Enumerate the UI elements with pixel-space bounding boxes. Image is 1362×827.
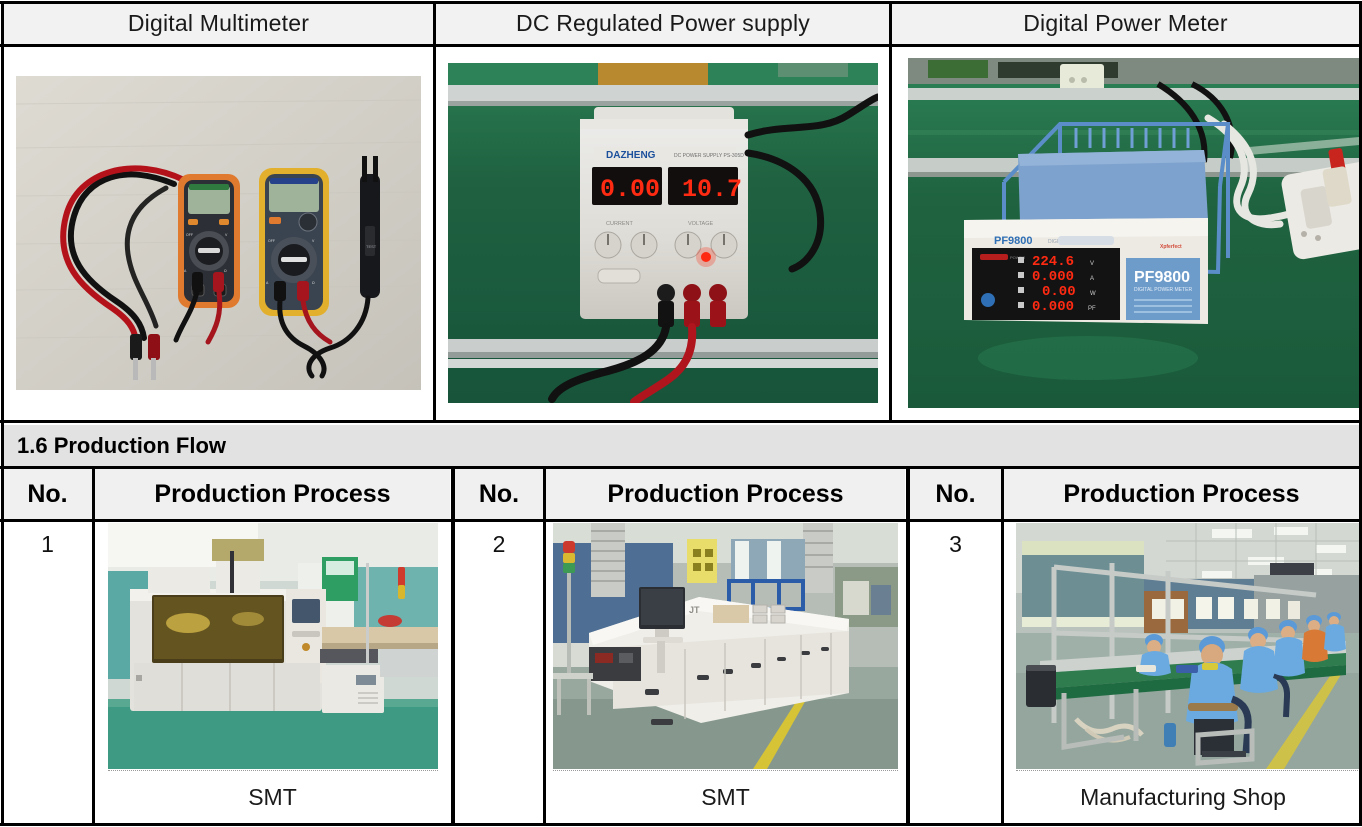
pf-header-process-1: Production Process [95, 469, 450, 519]
svg-text:DC POWER SUPPLY PS-305D: DC POWER SUPPLY PS-305D [674, 153, 744, 159]
border-left-edge [1, 1, 4, 826]
pf-header-label: No. [935, 480, 975, 509]
pf-row-number-label: 3 [949, 531, 962, 558]
svg-text:W: W [1090, 291, 1096, 297]
pf-header-process-2: Production Process [546, 469, 905, 519]
svg-text:PF9800: PF9800 [994, 235, 1033, 247]
border-top [0, 1, 1362, 4]
page-root: Digital Multimeter DC Regulated Power su… [0, 0, 1362, 827]
border-pf-no2-proc2 [543, 468, 546, 824]
svg-text:DAZHENG: DAZHENG [606, 150, 656, 161]
equipment-header-dc-regulated-power-supply: DC Regulated Power supply [436, 3, 890, 44]
pf-image-wrap-3 [1016, 523, 1362, 771]
pf-caption-label: Manufacturing Shop [1080, 784, 1286, 811]
psu-left-reading: 0.00 [600, 175, 660, 204]
pf-header-label: Production Process [1063, 480, 1299, 509]
equipment-header-label: Digital Multimeter [128, 10, 309, 37]
pf-header-no-1: No. [3, 469, 92, 519]
svg-text:JT: JT [689, 605, 700, 615]
photo-digital-multimeter: OFFV AΩ [16, 76, 421, 390]
svg-text:OFF: OFF [268, 239, 275, 243]
svg-text:PF: PF [1088, 306, 1096, 312]
svg-text:DIGITAL POWER METER: DIGITAL POWER METER [1134, 287, 1192, 293]
pf-row-number-1: 1 [3, 521, 92, 824]
pf-caption-3: Manufacturing Shop [1004, 771, 1362, 824]
pf-header-process-3: Production Process [1004, 469, 1359, 519]
pf-caption-1: SMT [95, 771, 450, 824]
equipment-photo-cell-3: PF9800 DIGITAL POWER METER POWER 224.6 [892, 46, 1362, 420]
dc-power-supply-illustration: DAZHENG DC POWER SUPPLY PS-305D 0.00 10.… [448, 63, 878, 403]
pf-header-no-3: No. [910, 469, 1001, 519]
pf-header-no-2: No. [455, 469, 543, 519]
photo-dc-regulated-power-supply: DAZHENG DC POWER SUPPLY PS-305D 0.00 10.… [448, 63, 878, 403]
border-pf-proc2-no3 [906, 468, 910, 824]
smt-printer-illustration [108, 523, 438, 769]
pf-row-number-2: 2 [455, 521, 543, 824]
equipment-header-label: DC Regulated Power supply [516, 10, 810, 37]
equipment-header-label: Digital Power Meter [1023, 10, 1227, 37]
pf-row-number-3: 3 [910, 521, 1001, 824]
svg-text:Ω: Ω [312, 281, 315, 285]
svg-text:A: A [1090, 276, 1094, 282]
border-under-pf-header [0, 519, 1362, 522]
svg-text:OFF: OFF [186, 233, 193, 237]
equipment-photo-cell-1: OFFV AΩ [3, 46, 434, 420]
border-pf-no3-proc3 [1001, 468, 1004, 824]
border-pf-proc1-no2 [451, 468, 455, 824]
photo-manufacturing-shop [1016, 523, 1362, 769]
equipment-header-digital-power-meter: Digital Power Meter [892, 3, 1359, 44]
svg-text:CURRENT: CURRENT [606, 221, 634, 227]
photo-smt-reflow-oven: JT [553, 523, 898, 769]
svg-text:V: V [1090, 261, 1094, 267]
meter-reading-pf: 0.000 [1032, 299, 1074, 315]
equipment-photo-cell-2: DAZHENG DC POWER SUPPLY PS-305D 0.00 10.… [436, 46, 890, 420]
pf-image-wrap-1 [108, 523, 438, 771]
pf-header-label: Production Process [607, 480, 843, 509]
equipment-header-digital-multimeter: Digital Multimeter [3, 3, 434, 44]
multimeter-illustration: OFFV AΩ [16, 76, 421, 390]
border-bottom [0, 823, 1362, 826]
pf-caption-label: SMT [701, 784, 750, 811]
pf-header-label: No. [479, 480, 519, 509]
border-under-equipment-header [0, 44, 1362, 47]
svg-text:TEST: TEST [366, 244, 377, 249]
pf-caption-label: SMT [248, 784, 297, 811]
reflow-oven-illustration: JT [553, 523, 898, 769]
photo-smt-printer [108, 523, 438, 769]
pf-image-wrap-2: JT [553, 523, 898, 771]
meter-reading-voltage: 224.6 [1032, 254, 1074, 270]
border-under-section-bar [0, 466, 1362, 469]
pf-caption-2: SMT [546, 771, 905, 824]
border-pf-no1-proc1 [92, 468, 95, 824]
section-header-production-flow: 1.6 Production Flow [3, 425, 1359, 467]
pf-row-number-label: 1 [41, 531, 54, 558]
pf-process-cell-3: Manufacturing Shop [1004, 521, 1362, 824]
border-eq-col1-col2 [433, 1, 436, 423]
photo-digital-power-meter: PF9800 DIGITAL POWER METER POWER 224.6 [908, 58, 1362, 408]
svg-text:VOLTAGE: VOLTAGE [688, 221, 713, 227]
pf-process-cell-2: JT [546, 521, 905, 824]
svg-text:Xpferfect: Xpferfect [1160, 244, 1182, 250]
pf-header-label: Production Process [154, 480, 390, 509]
meter-reading-current: 0.000 [1032, 269, 1074, 285]
border-eq-col2-col3 [889, 1, 892, 423]
meter-reading-power: 0.00 [1042, 284, 1076, 300]
manufacturing-shop-illustration [1016, 523, 1362, 769]
pf-row-number-label: 2 [493, 531, 506, 558]
svg-text:PF9800: PF9800 [1134, 269, 1190, 286]
border-under-equipment-photos [0, 420, 1362, 423]
pf-header-label: No. [27, 480, 67, 509]
svg-text:Ω: Ω [224, 269, 227, 273]
pf-process-cell-1: SMT [95, 521, 450, 824]
section-title: 1.6 Production Flow [17, 433, 226, 459]
power-meter-illustration: PF9800 DIGITAL POWER METER POWER 224.6 [908, 58, 1362, 408]
psu-right-reading: 10.7 [682, 175, 742, 204]
